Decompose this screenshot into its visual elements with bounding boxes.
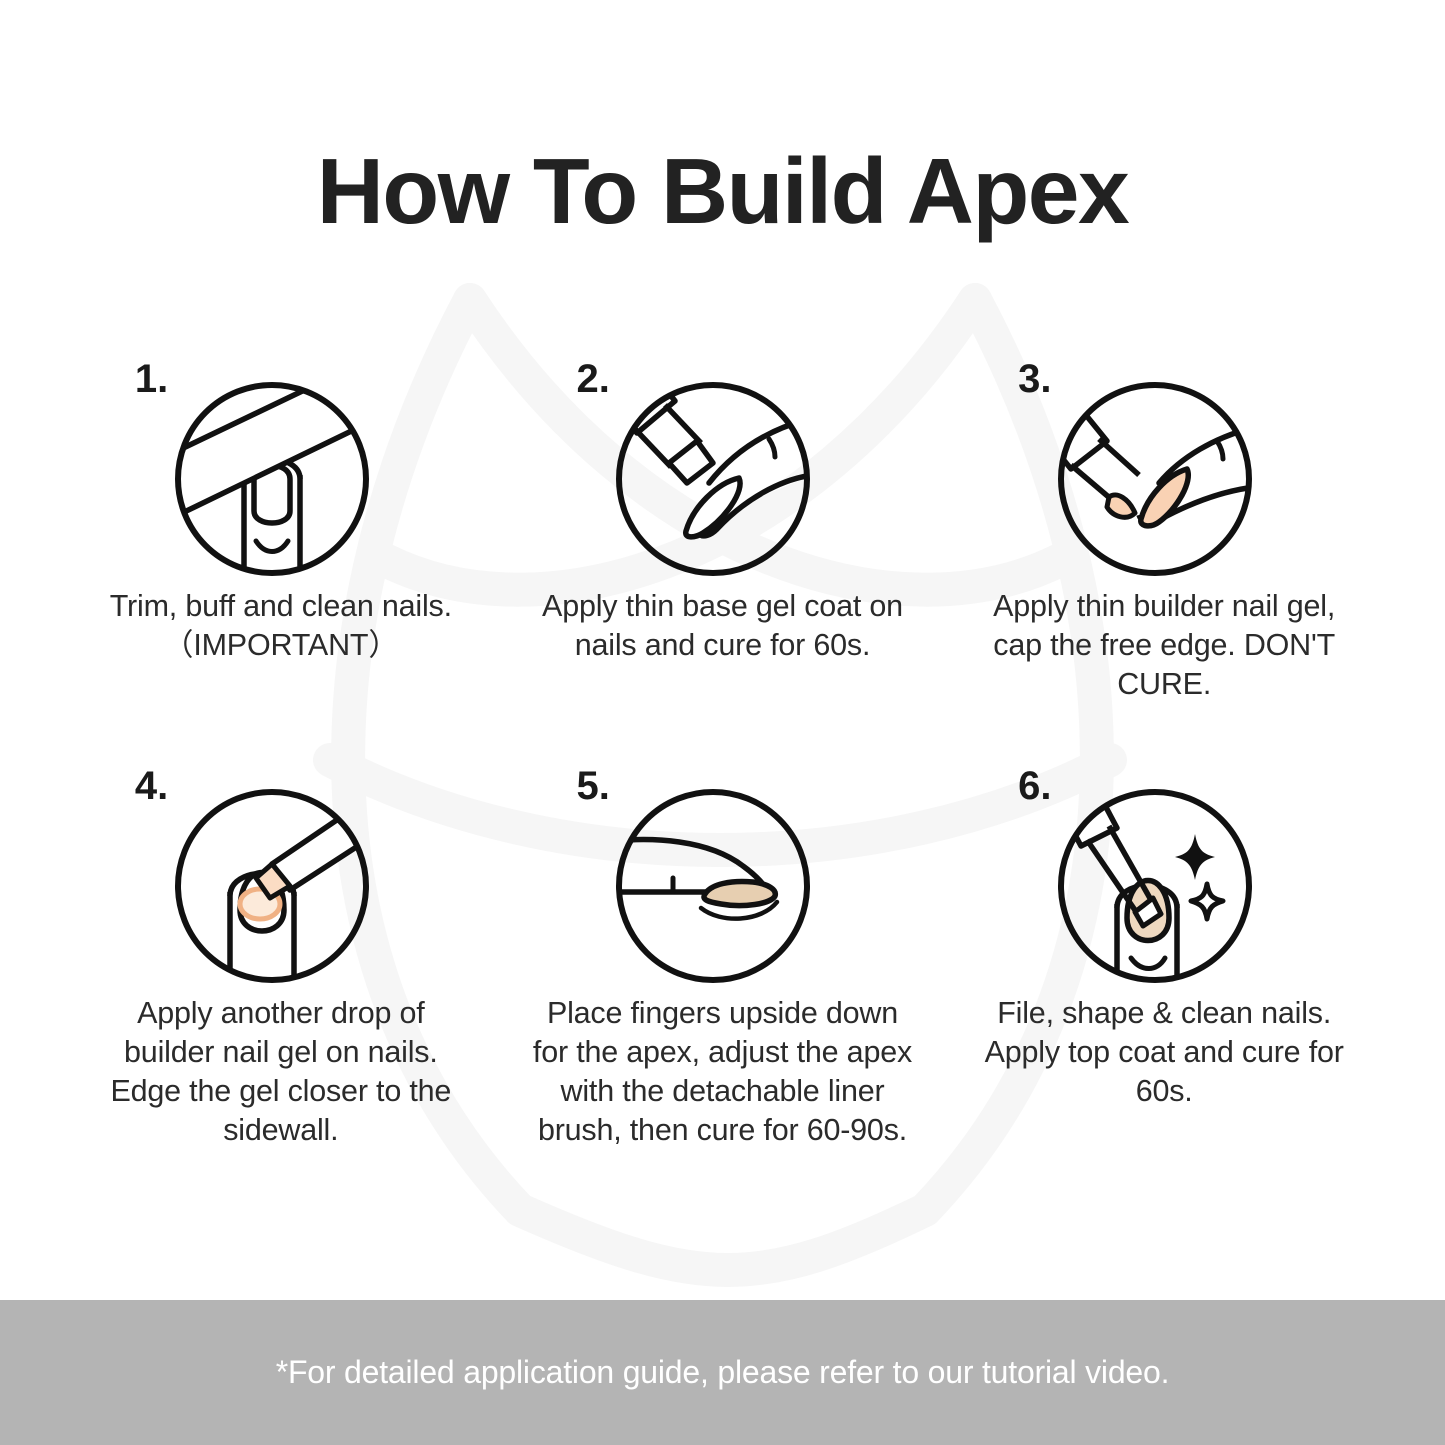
step-6-number: 6. (1018, 766, 1051, 806)
step-card-6: 6. (943, 762, 1385, 1150)
footer-bar: *For detailed application guide, please … (0, 1300, 1445, 1445)
step-1-caption: Trim, buff and clean nails. （IMPORTANT） (101, 587, 461, 665)
step-2-number: 2. (576, 359, 609, 399)
step-card-2: 2. (502, 355, 944, 704)
step-3-number: 3. (1018, 359, 1051, 399)
step-2-caption: Apply thin base gel coat on nails and cu… (532, 587, 912, 665)
finger-upside-down-apex-icon (613, 786, 813, 986)
file-shape-sparkle-icon (1055, 786, 1255, 986)
step-4-number: 4. (135, 766, 168, 806)
brush-builder-gel-free-edge-icon (1055, 379, 1255, 579)
step-3-illustration-area: 3. (1018, 355, 1310, 575)
step-6-caption: File, shape & clean nails. Apply top coa… (974, 994, 1354, 1111)
step-5-illustration-area: 5. (576, 762, 868, 982)
brush-base-coat-icon (613, 379, 813, 579)
step-4-caption: Apply another drop of builder nail gel o… (101, 994, 461, 1150)
step-6-illustration-area: 6. (1018, 762, 1310, 982)
step-2-illustration-area: 2. (576, 355, 868, 575)
how-to-build-apex-infographic: How To Build Apex 1. (0, 0, 1445, 1445)
footer-note: *For detailed application guide, please … (276, 1354, 1170, 1391)
step-4-illustration-area: 4. (135, 762, 427, 982)
step-5-caption: Place fingers upside down for the apex, … (532, 994, 912, 1150)
step-card-1: 1. (60, 355, 502, 704)
step-3-caption: Apply thin builder nail gel, cap the fre… (974, 587, 1354, 704)
nail-file-on-finger-icon (172, 379, 372, 579)
step-5-number: 5. (576, 766, 609, 806)
step-1-number: 1. (135, 359, 168, 399)
step-1-illustration-area: 1. (135, 355, 427, 575)
page-title: How To Build Apex (0, 138, 1445, 245)
step-card-3: 3. (943, 355, 1385, 704)
step-card-4: 4. (60, 762, 502, 1150)
brush-gel-drop-on-nail-icon (172, 786, 372, 986)
step-card-5: 5. (502, 762, 944, 1150)
steps-grid: 1. (60, 355, 1385, 1150)
